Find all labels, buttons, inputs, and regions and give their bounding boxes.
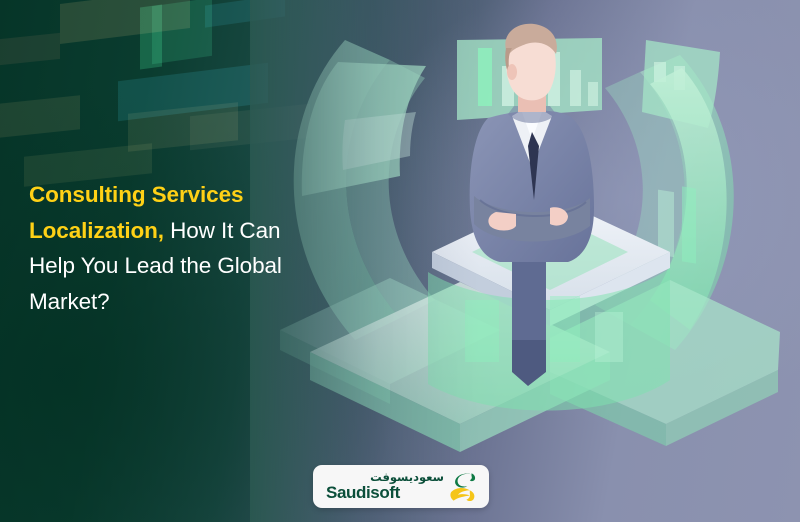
headline-line-3-text: Help You Lead the Global — [29, 253, 282, 278]
saudisoft-logo[interactable]: سعوديسوفت Saudisoft — [313, 465, 489, 508]
logo-latin-name: Saudisoft — [326, 484, 444, 502]
headline-line-2-plain: How It Can — [164, 218, 280, 243]
banner-root: Consulting Services Localization, How It… — [0, 0, 800, 522]
headline-line-2-accent: Localization, — [29, 218, 164, 243]
headline-line-1: Consulting Services — [29, 177, 389, 213]
headline-line-2: Localization, How It Can — [29, 213, 389, 249]
headline-line-4-text: Market? — [29, 289, 110, 314]
headline-line-3: Help You Lead the Global — [29, 248, 389, 284]
headline-line-1-text: Consulting Services — [29, 182, 243, 207]
saudisoft-swoosh-icon — [446, 470, 480, 504]
logo-wordmark: سعوديسوفت Saudisoft — [326, 471, 444, 502]
bg-block-5 — [152, 0, 212, 64]
logo-arabic-name: سعوديسوفت — [326, 471, 444, 483]
headline-line-4: Market? — [29, 284, 389, 320]
page-title: Consulting Services Localization, How It… — [29, 177, 389, 319]
